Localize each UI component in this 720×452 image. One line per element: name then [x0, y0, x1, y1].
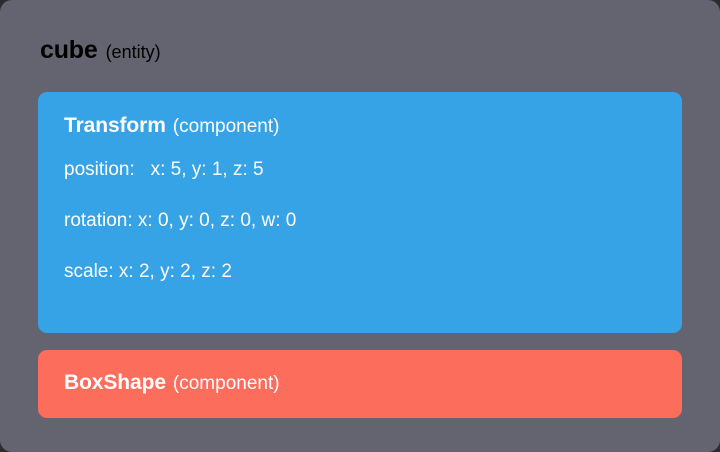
entity-name: cube [40, 36, 98, 65]
property-key-rotation: rotation: [64, 210, 133, 232]
property-list-transform: position: x: 5, y: 1, z: 5 rotation: x: … [64, 159, 656, 283]
entity-header: cube (entity) [40, 36, 161, 65]
component-card-boxshape[interactable]: BoxShape (component) [38, 350, 682, 418]
entity-kind-label: (entity) [106, 42, 161, 63]
property-key-position: position: [64, 159, 140, 181]
component-kind-label-boxshape: (component) [173, 373, 280, 395]
component-kind-label-transform: (component) [173, 116, 280, 138]
component-title-boxshape: BoxShape (component) [64, 371, 656, 395]
property-row-position: position: x: 5, y: 1, z: 5 [64, 159, 656, 181]
property-row-rotation: rotation: x: 0, y: 0, z: 0, w: 0 [64, 210, 656, 232]
component-name-transform: Transform [64, 114, 166, 138]
property-key-scale: scale: [64, 261, 114, 283]
property-row-scale: scale: x: 2, y: 2, z: 2 [64, 261, 656, 283]
component-card-transform[interactable]: Transform (component) position: x: 5, y:… [38, 92, 682, 333]
property-value-rotation: x: 0, y: 0, z: 0, w: 0 [133, 210, 297, 232]
entity-inspector-card: cube (entity) Transform (component) posi… [0, 0, 720, 452]
component-name-boxshape: BoxShape [64, 371, 166, 395]
component-title-transform: Transform (component) [64, 114, 656, 138]
property-value-position: x: 5, y: 1, z: 5 [140, 159, 264, 181]
property-value-scale: x: 2, y: 2, z: 2 [114, 261, 232, 283]
component-list: Transform (component) position: x: 5, y:… [38, 92, 682, 418]
